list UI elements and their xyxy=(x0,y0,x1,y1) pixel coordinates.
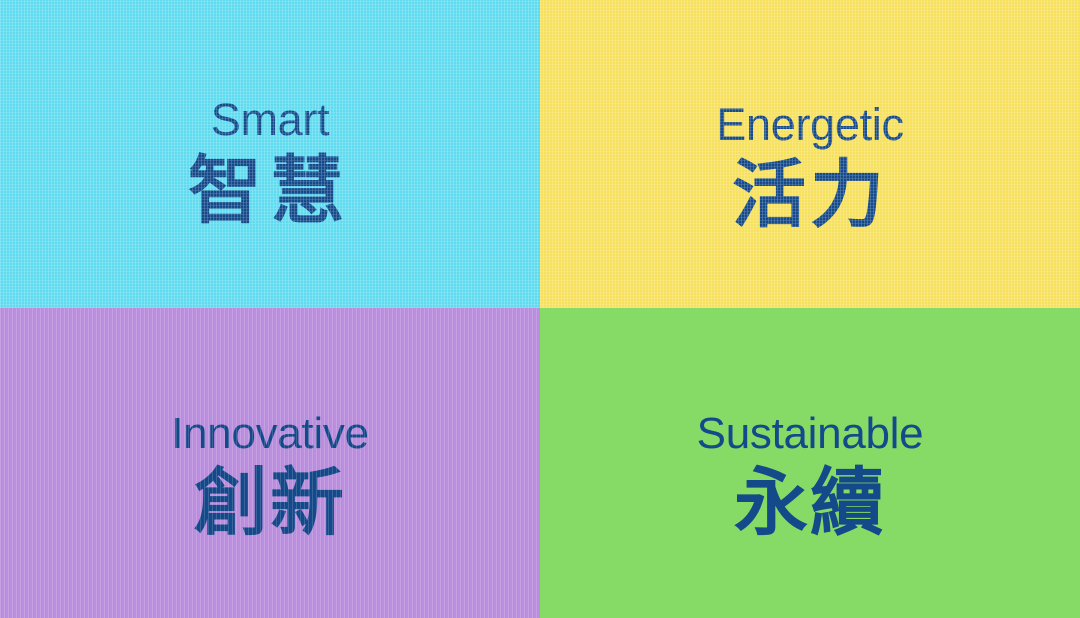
quadrant-innovative-english-label: Innovative xyxy=(171,412,369,456)
quadrant-smart: Smart 智慧 xyxy=(0,0,540,308)
quadrant-sustainable-chinese-label: 永續 xyxy=(734,466,886,540)
quadrant-smart-chinese-label: 智慧 xyxy=(188,154,352,228)
quadrant-energetic-chinese-label: 活力 xyxy=(732,158,888,232)
brand-values-poster: Smart 智慧 Energetic 活力 Innovative 創新 Sust… xyxy=(0,0,1080,618)
quadrant-energetic: Energetic 活力 xyxy=(540,0,1080,308)
quadrant-innovative: Innovative 創新 xyxy=(0,308,540,618)
quadrant-grid: Smart 智慧 Energetic 活力 Innovative 創新 Sust… xyxy=(0,0,1080,618)
quadrant-smart-english-label: Smart xyxy=(211,97,330,142)
quadrant-innovative-chinese-label: 創新 xyxy=(194,466,346,540)
quadrant-sustainable-english-label: Sustainable xyxy=(697,412,924,456)
quadrant-sustainable: Sustainable 永續 xyxy=(540,308,1080,618)
quadrant-energetic-english-label: Energetic xyxy=(716,102,903,147)
